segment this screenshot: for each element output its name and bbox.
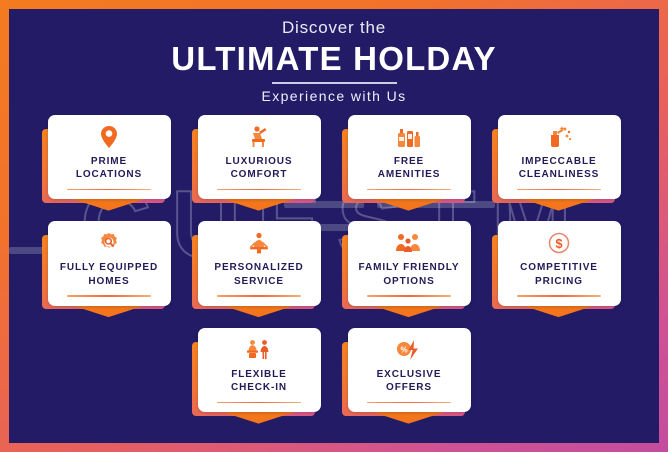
card-title-line1: EXCLUSIVE [377,369,442,380]
feature-row-1: 1 PRIME LOCATIONS [9,115,659,200]
card-underline [67,295,151,297]
card-title-line2: COMFORT [231,169,288,180]
dollar-circle-icon: $ [547,230,571,256]
card-underline [217,189,301,191]
card-title-line1: FLEXIBLE [231,369,287,380]
feature-card-competitive-pricing[interactable]: 8 $ COMPETITIVE PRICING [498,221,621,306]
card-title-line1: FAMILY FRIENDLY [359,262,460,273]
card-body[interactable]: IMPECCABLE CLEANLINESS [498,115,621,200]
card-underline [367,402,451,404]
card-body[interactable]: FREE AMENITIES [348,115,471,200]
header-kicker: Discover the [9,18,659,38]
card-title-line2: CHECK-IN [231,382,287,393]
divider-line [272,82,397,84]
card-title: PRIME LOCATIONS [76,155,142,182]
gear-search-icon [96,230,122,256]
card-title: IMPECCABLE CLEANLINESS [519,155,599,182]
card-body[interactable]: FLEXIBLE CHECK-IN [198,328,321,413]
card-title-line1: FULLY EQUIPPED [60,262,158,273]
card-title-line2: LOCATIONS [76,169,142,180]
svg-text:$: $ [555,236,563,251]
family-group-icon [394,230,424,256]
card-title-line1: LUXURIOUS [226,156,293,167]
card-title: FAMILY FRIENDLY OPTIONS [359,261,460,288]
feature-card-prime-locations[interactable]: 1 PRIME LOCATIONS [48,115,171,200]
toiletries-icon [396,124,422,150]
card-title-line1: COMPETITIVE [520,262,598,273]
card-title-line2: PRICING [535,276,583,287]
card-underline [517,189,601,191]
card-title-line1: PRIME [91,156,127,167]
card-title-line2: OFFERS [386,382,432,393]
card-title: EXCLUSIVE OFFERS [377,368,442,395]
card-body[interactable]: FULLY EQUIPPED HOMES [48,221,171,306]
feature-row-3: 9 [9,328,659,413]
feature-card-impeccable-cleanliness[interactable]: 4 [498,115,621,200]
card-title-line1: FREE [394,156,424,167]
header-divider [9,82,659,84]
card-title: PERSONALIZED SERVICE [214,261,303,288]
lounge-chair-icon [246,124,272,150]
card-underline [367,189,451,191]
cleaning-spray-icon [545,124,573,150]
feature-card-exclusive-offers[interactable]: 10 % EXCLUSIVE OFFERS [348,328,471,413]
card-title-line2: HOMES [88,276,129,287]
card-underline [517,295,601,297]
poster-header: Discover the ULTIMATE HOLDAY Experience … [9,9,659,104]
card-title: FLEXIBLE CHECK-IN [231,368,287,395]
feature-row-2: 5 FULLY EQUIPPED HOMES [9,221,659,306]
card-title-line2: OPTIONS [383,276,434,287]
card-title-line2: AMENITIES [378,169,441,180]
card-underline [367,295,451,297]
svg-text:%: % [400,345,407,354]
card-body[interactable]: $ COMPETITIVE PRICING [498,221,621,306]
card-underline [67,189,151,191]
card-title: COMPETITIVE PRICING [520,261,598,288]
card-body[interactable]: FAMILY FRIENDLY OPTIONS [348,221,471,306]
card-title-line2: SERVICE [234,276,284,287]
card-body[interactable]: PRIME LOCATIONS [48,115,171,200]
card-title: FREE AMENITIES [378,155,441,182]
poster-stage: GUESTM Discover the ULTIMATE HOLDAY Expe… [9,9,659,443]
card-title: FULLY EQUIPPED HOMES [60,261,158,288]
card-title: LUXURIOUS COMFORT [226,155,293,182]
feature-card-luxurious-comfort[interactable]: 2 LUXURIOUS [198,115,321,200]
feature-card-personalized-service[interactable]: 6 PERSONALIZED SERVICE [198,221,321,306]
card-body[interactable]: LUXURIOUS COMFORT [198,115,321,200]
card-underline [217,295,301,297]
reception-desk-icon [245,337,273,363]
feature-card-free-amenities[interactable]: 3 FREE [348,115,471,200]
card-title-line1: IMPECCABLE [521,156,596,167]
card-body[interactable]: PERSONALIZED SERVICE [198,221,321,306]
header-subhead: Experience with Us [9,88,659,104]
page-title: ULTIMATE HOLDAY [9,41,659,77]
poster-frame: GUESTM Discover the ULTIMATE HOLDAY Expe… [0,0,668,452]
card-underline [217,402,301,404]
discount-bolt-icon: % [395,337,423,363]
feature-card-family-friendly-options[interactable]: 7 FAMILY FRIENDLY [348,221,471,306]
concierge-icon [246,230,272,256]
card-title-line1: PERSONALIZED [214,262,303,273]
feature-card-flexible-check-in[interactable]: 9 [198,328,321,413]
card-title-line2: CLEANLINESS [519,169,599,180]
location-pin-icon [99,124,119,150]
feature-card-fully-equipped-homes[interactable]: 5 FULLY EQUIPPED HOMES [48,221,171,306]
card-body[interactable]: % EXCLUSIVE OFFERS [348,328,471,413]
